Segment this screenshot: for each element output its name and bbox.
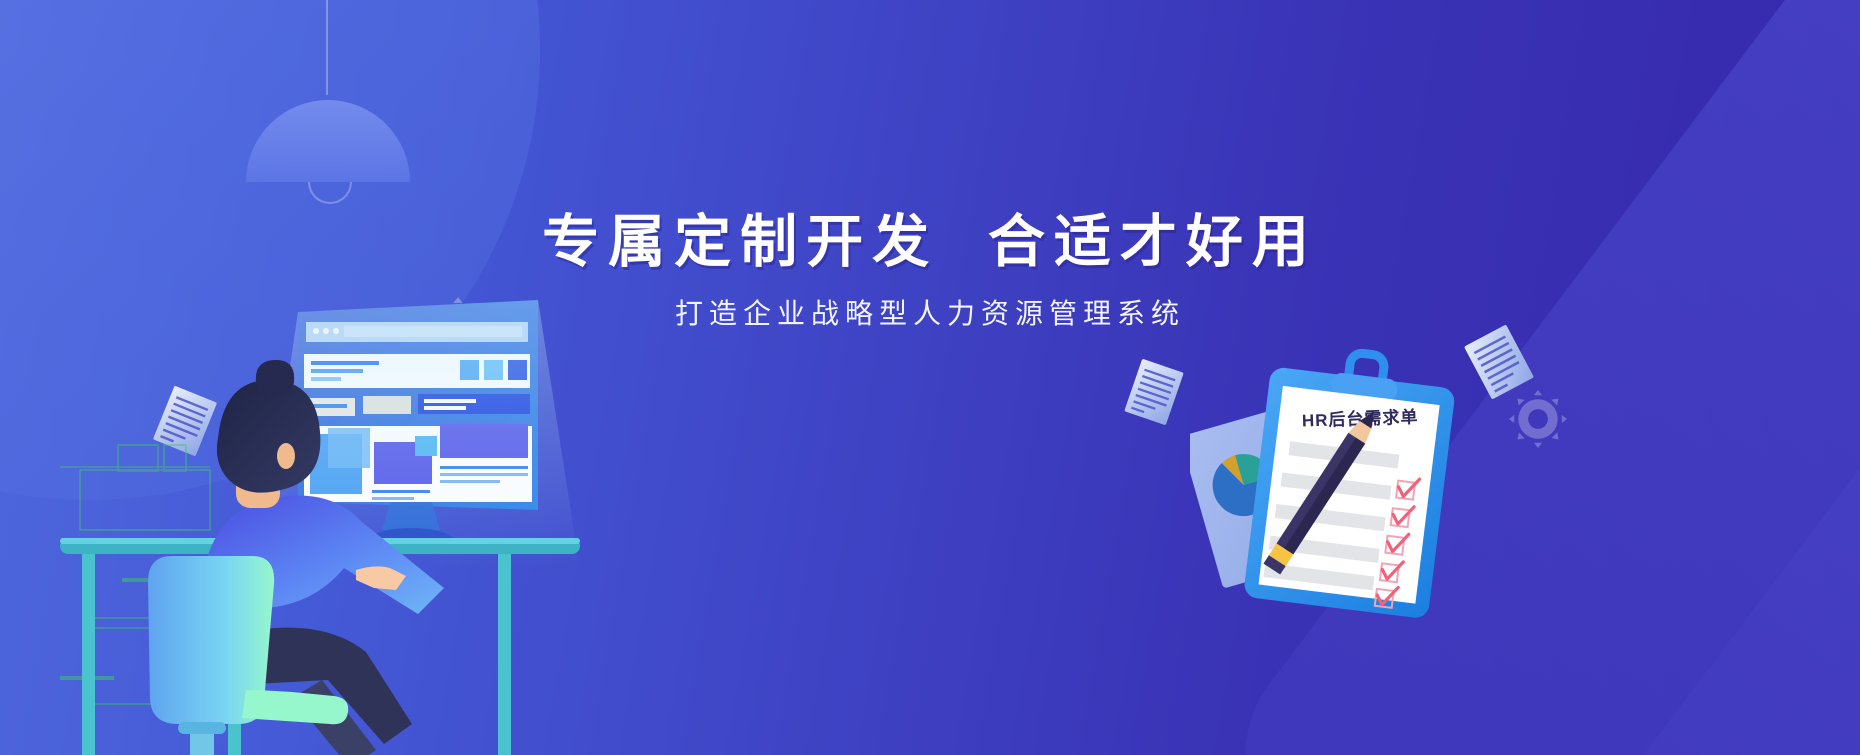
hr-requirement-clipboard-illustration: HR后台需求单 [1190, 330, 1520, 630]
document-icon [1124, 358, 1184, 425]
clipboard: HR后台需求单 [1243, 343, 1459, 620]
lamp-cord [326, 0, 328, 95]
page-title: 专属定制开发 合适才好用 [0, 214, 1860, 271]
hero-banner: 专属定制开发 合适才好用 打造企业战略型人力资源管理系统 [0, 0, 1860, 755]
developer-at-desk-illustration [60, 270, 620, 755]
